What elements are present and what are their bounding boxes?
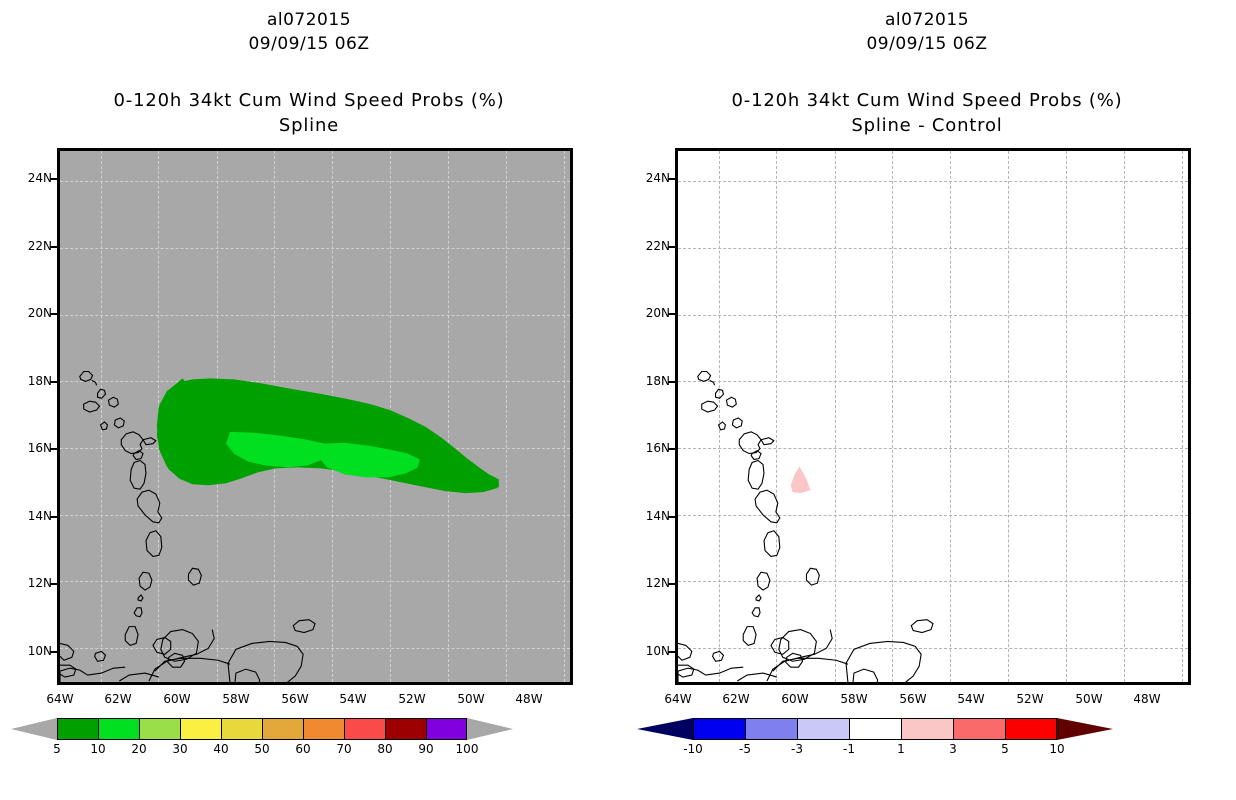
colorbar-extend-low-icon [637, 718, 693, 740]
colorbar-label-pos3: 3 [935, 742, 971, 756]
colorbar-label-40: 40 [203, 742, 239, 756]
colorbar-extend-high-icon [467, 718, 513, 740]
colorbar-segments [57, 718, 467, 740]
colorbar-label-50: 50 [244, 742, 280, 756]
colorbar-label-neg1: -1 [831, 742, 867, 756]
ytick-label-12N: 12N [632, 576, 670, 590]
colorbar-segment-neg5 [745, 718, 797, 740]
xtick-label-62W: 62W [716, 692, 756, 706]
colorbar-segment-70 [344, 718, 385, 740]
trinidad-and-coast [235, 669, 313, 682]
ytick-mark [668, 381, 675, 383]
ytick-mark [50, 583, 57, 585]
ytick-mark [50, 381, 57, 383]
ytick-mark [668, 651, 675, 653]
colorbar-segment-30 [180, 718, 221, 740]
colorbar-label-30: 30 [162, 742, 198, 756]
colorbar-segment-neg1 [849, 718, 901, 740]
ytick-label-12N: 12N [14, 576, 52, 590]
ytick-mark [50, 313, 57, 315]
colorbar-segment-60 [303, 718, 344, 740]
colorbar-label-pos10: 10 [1039, 742, 1075, 756]
map-inner-right [678, 151, 1188, 682]
ytick-mark [668, 178, 675, 180]
panel-right-datetime: 09/09/15 06Z [618, 34, 1236, 54]
panel-spline-minus-control: al072015 09/09/15 06Z 0-120h 34kt Cum Wi… [618, 0, 1236, 800]
xtick-label-54W: 54W [333, 692, 373, 706]
colorbar-segment-80 [385, 718, 426, 740]
ytick-mark [668, 516, 675, 518]
xtick-label-48W: 48W [509, 692, 549, 706]
colorbar-label-80: 80 [367, 742, 403, 756]
ytick-mark [668, 313, 675, 315]
panel-left-datetime: 09/09/15 06Z [0, 34, 618, 54]
south-america-coastline [60, 620, 315, 682]
colorbar-segment-90 [426, 718, 467, 740]
panel-left-title-main: 0-120h 34kt Cum Wind Speed Probs (%) [0, 90, 618, 111]
colorbar-segment-10 [98, 718, 139, 740]
ytick-label-22N: 22N [632, 239, 670, 253]
xtick-label-58W: 58W [834, 692, 874, 706]
panel-left-storm-id: al072015 [0, 10, 618, 30]
colorbar-segment-neg10 [693, 718, 745, 740]
colorbar-label-70: 70 [326, 742, 362, 756]
xtick-label-60W: 60W [157, 692, 197, 706]
xtick-label-52W: 52W [392, 692, 432, 706]
xtick-label-50W: 50W [1069, 692, 1109, 706]
colorbar-segment-5 [57, 718, 98, 740]
colorbar-label-neg10: -10 [675, 742, 711, 756]
lesser-antilles-islands [80, 372, 202, 646]
panel-right-title-sub: Spline - Control [618, 115, 1236, 136]
colorbar-segment-neg3 [797, 718, 849, 740]
colorbar-label-20: 20 [121, 742, 157, 756]
ytick-mark [50, 516, 57, 518]
ytick-label-24N: 24N [14, 171, 52, 185]
ytick-label-10N: 10N [14, 644, 52, 658]
ytick-label-24N: 24N [632, 171, 670, 185]
ytick-label-18N: 18N [14, 374, 52, 388]
colorbar-label-pos5: 5 [987, 742, 1023, 756]
xtick-label-48W: 48W [1127, 692, 1167, 706]
map-plot-area-left [57, 148, 573, 685]
xtick-label-64W: 64W [40, 692, 80, 706]
colorbar-segment-40 [221, 718, 262, 740]
trinidad-and-coast [853, 669, 931, 682]
colorbar-label-60: 60 [285, 742, 321, 756]
ytick-mark [668, 246, 675, 248]
panel-spline: al072015 09/09/15 06Z 0-120h 34kt Cum Wi… [0, 0, 618, 800]
ytick-label-18N: 18N [632, 374, 670, 388]
xtick-label-50W: 50W [451, 692, 491, 706]
difference-colorbar: -10 -5 -3 -1 1 3 5 10 [693, 718, 1113, 760]
colorbar-label-100: 100 [449, 742, 485, 756]
xtick-label-56W: 56W [275, 692, 315, 706]
ytick-mark [50, 178, 57, 180]
panel-right-storm-id: al072015 [618, 10, 1236, 30]
ytick-label-10N: 10N [632, 644, 670, 658]
ytick-mark [50, 651, 57, 653]
panel-left-title-sub: Spline [0, 115, 618, 136]
xtick-label-62W: 62W [98, 692, 138, 706]
map-plot-area-right [675, 148, 1191, 685]
xtick-label-56W: 56W [893, 692, 933, 706]
xtick-label-58W: 58W [216, 692, 256, 706]
ytick-label-22N: 22N [14, 239, 52, 253]
coastline-overlay [678, 151, 1188, 682]
xtick-label-54W: 54W [951, 692, 991, 706]
colorbar-label-neg3: -3 [779, 742, 815, 756]
colorbar-segment-pos1 [901, 718, 953, 740]
colorbar-segment-50 [262, 718, 303, 740]
colorbar-segment-20 [139, 718, 180, 740]
ytick-label-16N: 16N [14, 441, 52, 455]
probability-colorbar: 5 10 20 30 40 50 60 70 80 90 100 [57, 718, 573, 760]
ytick-label-14N: 14N [14, 509, 52, 523]
ytick-label-20N: 20N [14, 306, 52, 320]
ytick-label-14N: 14N [632, 509, 670, 523]
colorbar-segments [693, 718, 1057, 740]
colorbar-label-90: 90 [408, 742, 444, 756]
ytick-label-16N: 16N [632, 441, 670, 455]
lesser-antilles-islands [698, 372, 820, 646]
south-america-coastline [678, 620, 933, 682]
map-inner-left [60, 151, 570, 682]
ytick-mark [50, 246, 57, 248]
colorbar-extend-low-icon [11, 718, 57, 740]
colorbar-segment-pos5 [1005, 718, 1057, 740]
colorbar-segment-pos3 [953, 718, 1005, 740]
xtick-label-60W: 60W [775, 692, 815, 706]
colorbar-label-pos1: 1 [883, 742, 919, 756]
xtick-label-52W: 52W [1010, 692, 1050, 706]
colorbar-label-neg5: -5 [727, 742, 763, 756]
colorbar-label-5: 5 [39, 742, 75, 756]
coastline-overlay [60, 151, 570, 682]
ytick-mark [668, 583, 675, 585]
ytick-mark [50, 448, 57, 450]
colorbar-label-10: 10 [80, 742, 116, 756]
panel-right-title-main: 0-120h 34kt Cum Wind Speed Probs (%) [618, 90, 1236, 111]
ytick-mark [668, 448, 675, 450]
xtick-label-64W: 64W [658, 692, 698, 706]
ytick-label-20N: 20N [632, 306, 670, 320]
colorbar-extend-high-icon [1057, 718, 1113, 740]
